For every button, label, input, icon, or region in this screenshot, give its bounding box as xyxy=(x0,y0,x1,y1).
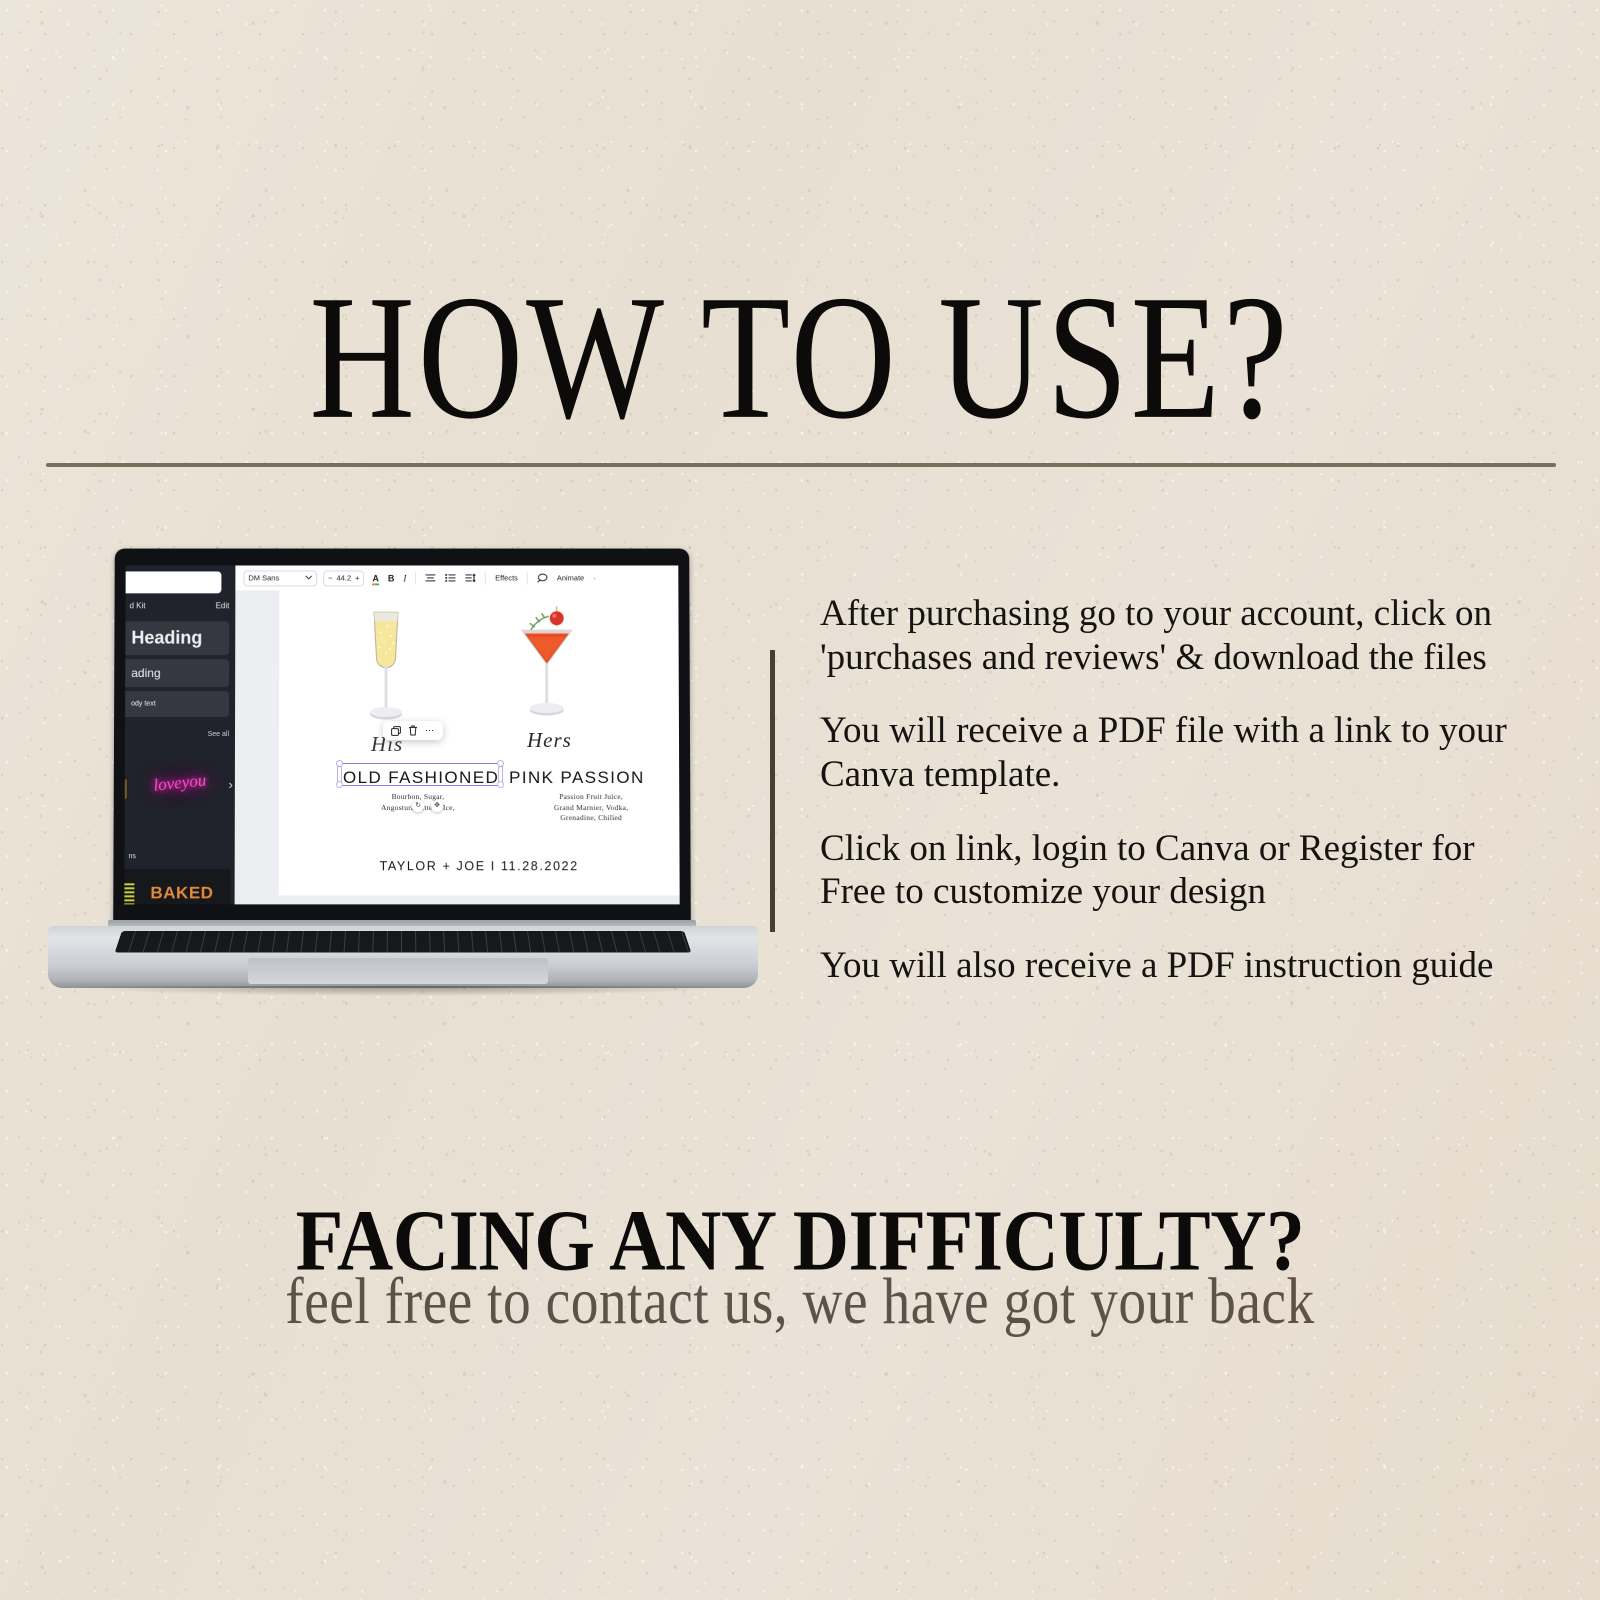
color-swatch[interactable] xyxy=(124,779,127,799)
laptop-keyboard xyxy=(115,931,692,953)
steps-list: After purchasing go to your account, cli… xyxy=(820,592,1540,1018)
duplicate-icon xyxy=(391,726,401,736)
font-family-value: DM Sans xyxy=(248,573,279,582)
drink-name-2[interactable]: PINK PASSION xyxy=(509,768,645,788)
elements-label: ns xyxy=(128,853,135,860)
canva-sidebar: d Kit Edit Heading ading ody text See al… xyxy=(124,565,235,904)
selection-corner-bl[interactable] xyxy=(336,781,343,788)
toolbar-divider-1 xyxy=(415,571,416,584)
step-item-1: After purchasing go to your account, cli… xyxy=(820,592,1540,679)
italic-button[interactable]: I xyxy=(403,573,406,583)
toolbar-divider-2 xyxy=(485,571,486,584)
steps-vertical-divider xyxy=(770,650,775,932)
line-spacing-icon[interactable] xyxy=(465,573,476,582)
style-subheading-item[interactable]: ading xyxy=(124,659,229,687)
sidebar-search-input[interactable] xyxy=(124,571,221,593)
animate-button[interactable]: Animate xyxy=(557,573,584,582)
step-item-4: You will also receive a PDF instruction … xyxy=(820,944,1540,988)
bullet-list-icon[interactable] xyxy=(445,573,456,582)
effects-button[interactable]: Effects xyxy=(495,573,518,582)
laptop-screen: d Kit Edit Heading ading ody text See al… xyxy=(124,565,679,904)
animate-icon[interactable] xyxy=(537,573,548,583)
text-color-button[interactable]: A xyxy=(372,573,378,583)
selection-corner-br[interactable] xyxy=(497,781,504,788)
canva-canvas-area: His Hers OLD FASHIONED PINK PASSION Bour… xyxy=(235,590,680,904)
element-context-menu[interactable]: ⋯ xyxy=(383,721,443,740)
step-item-3: Click on link, login to Canva or Registe… xyxy=(820,827,1540,914)
neon-love-you-thumbnail[interactable]: love you xyxy=(147,758,213,808)
style-subheading-label: ading xyxy=(131,666,160,680)
selection-corner-tl[interactable] xyxy=(336,760,343,767)
style-heading-label: Heading xyxy=(131,628,202,649)
brand-kit-row: d Kit Edit xyxy=(130,601,230,613)
toolbar-more-button[interactable]: · xyxy=(593,573,596,582)
brand-kit-label: d Kit xyxy=(130,601,146,610)
font-size-stepper[interactable]: − 44.2 + xyxy=(323,570,364,586)
rotate-handle-icon[interactable]: ↻ xyxy=(412,800,424,812)
see-all-link[interactable]: See all xyxy=(208,731,229,738)
font-size-increase-button[interactable]: + xyxy=(355,573,359,582)
style-bodytext-label: ody text xyxy=(131,701,156,708)
selection-bounding-box[interactable] xyxy=(339,763,503,786)
laptop-mockup: d Kit Edit Heading ading ody text See al… xyxy=(48,548,758,1008)
footer-subheading: feel free to contact us, we have got you… xyxy=(8,1264,1592,1340)
toolbar-divider-3 xyxy=(527,571,528,584)
drink-script-2[interactable]: Hers xyxy=(527,728,572,753)
canva-toolbar: DM Sans − 44.2 + A B I xyxy=(235,565,678,590)
baked-label: BAKED xyxy=(150,883,213,903)
decorative-bars-icon xyxy=(124,883,134,904)
style-bodytext-item[interactable]: ody text xyxy=(124,691,229,717)
canva-design-page[interactable]: His Hers OLD FASHIONED PINK PASSION Bour… xyxy=(279,590,680,895)
laptop-base xyxy=(48,926,758,988)
align-center-icon[interactable] xyxy=(425,573,436,582)
trash-icon xyxy=(408,725,418,736)
drink-ingredients-2[interactable]: Passion Fruit Juice, Grand Marnier, Vodk… xyxy=(501,792,680,824)
carousel-next-icon[interactable]: › xyxy=(229,777,233,792)
baked-fresh-thumbnail[interactable]: BAKED FRESH xyxy=(124,869,230,904)
fresh-label: FRESH xyxy=(148,901,208,904)
bold-button[interactable]: B xyxy=(388,573,394,583)
laptop-trackpad xyxy=(248,958,548,984)
style-heading-item[interactable]: Heading xyxy=(124,621,229,655)
laptop-lid: d Kit Edit Heading ading ody text See al… xyxy=(113,549,691,927)
drink-illustration-2[interactable] xyxy=(511,600,581,730)
move-handle-icon[interactable]: ✥ xyxy=(431,800,443,812)
header-divider xyxy=(46,463,1556,467)
design-footer-text[interactable]: TAYLOR + JOE I 11.28.2022 xyxy=(279,859,680,873)
selection-corner-tr[interactable] xyxy=(497,760,504,767)
chevron-down-icon xyxy=(305,575,312,580)
step-item-2: You will receive a PDF file with a link … xyxy=(820,709,1540,796)
neon-line-2: you xyxy=(181,773,207,790)
ellipsis-icon: ⋯ xyxy=(425,725,435,736)
font-size-decrease-button[interactable]: − xyxy=(328,573,332,582)
font-size-value: 44.2 xyxy=(337,573,352,582)
drink-illustration-1[interactable] xyxy=(357,608,415,730)
page-title: HOW TO USE? xyxy=(0,268,1600,446)
font-family-select[interactable]: DM Sans xyxy=(243,570,317,586)
brand-kit-edit-button[interactable]: Edit xyxy=(216,601,230,610)
neon-line-1: love xyxy=(153,776,183,793)
